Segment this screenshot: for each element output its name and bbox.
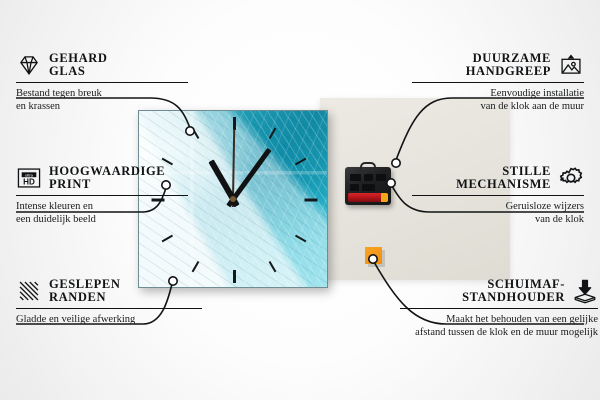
feature-desc-line2: van de klok aan de muur [412, 100, 584, 113]
feature-stille-mechanisme: STILLE MECHANISME Geruisloze wijzers van… [412, 165, 584, 227]
feature-divider [412, 82, 584, 83]
feature-desc-line1: Gladde en veilige afwerking [16, 313, 202, 326]
feature-title-line2: HANDGREEP [466, 65, 551, 78]
feature-description: Intense kleuren en een duidelijk beeld [16, 200, 188, 227]
feature-title-line2: RANDEN [49, 291, 121, 304]
feature-desc-line1: Bestand tegen breuk [16, 87, 188, 100]
feature-divider [412, 195, 584, 196]
infographic-stage: GEHARD GLAS Bestand tegen breuk en krass… [0, 0, 600, 400]
hatched-edge-icon [16, 278, 42, 304]
stamp-down-arrow-icon [572, 278, 598, 304]
ultra-hd-icon: ultra HD [16, 165, 42, 191]
clock-center-pivot [230, 196, 236, 202]
feature-divider [16, 195, 188, 196]
feature-desc-line1: Geruisloze wijzers [412, 200, 584, 213]
diamond-icon [16, 52, 42, 78]
feature-title-line2: GLAS [49, 65, 107, 78]
feature-divider [16, 308, 202, 309]
feature-desc-line2: en krassen [16, 100, 188, 113]
svg-text:ultra: ultra [25, 172, 34, 177]
feature-desc-line2: afstand tussen de klok en de muur mogeli… [400, 326, 598, 339]
feature-desc-line2: van de klok [412, 213, 584, 226]
feature-description: Gladde en veilige afwerking [16, 313, 202, 326]
feature-description: Geruisloze wijzers van de klok [412, 200, 584, 227]
svg-text:HD: HD [23, 178, 35, 187]
feature-desc-line1: Maakt het behouden van een gelijke [400, 313, 598, 326]
feature-duurzame-handgreep: DUURZAME HANDGREEP Eenvoudige installati… [412, 52, 584, 114]
feature-geslepen-randen: GESLEPEN RANDEN Gladde en veilige afwerk… [16, 278, 202, 326]
feature-schuimafstandhouder: SCHUIMAF- STANDHOUDER Maakt het behouden… [400, 278, 598, 340]
feature-desc-line1: Eenvoudige installatie [412, 87, 584, 100]
picture-frame-icon [558, 52, 584, 78]
feature-desc-line1: Intense kleuren en [16, 200, 188, 213]
feature-title-line2: PRINT [49, 178, 165, 191]
feature-divider [400, 308, 598, 309]
feature-gehard-glas: GEHARD GLAS Bestand tegen breuk en krass… [16, 52, 188, 114]
feature-divider [16, 82, 188, 83]
feature-description: Maakt het behouden van een gelijke afsta… [400, 313, 598, 340]
movement-hanging-loop [360, 162, 376, 171]
feature-description: Eenvoudige installatie van de klok aan d… [412, 87, 584, 114]
aa-battery [348, 193, 388, 202]
gear-icon [558, 165, 584, 191]
feature-hoogwaardige-print: ultra HD HOOGWAARDIGE PRINT Intense kleu… [16, 165, 188, 227]
foam-spacer-pad [365, 247, 382, 264]
feature-desc-line2: een duidelijk beeld [16, 213, 188, 226]
feature-title-line2: STANDHOUDER [462, 291, 565, 304]
feature-title-line2: MECHANISME [456, 178, 551, 191]
clock-movement-module [345, 167, 391, 205]
feature-description: Bestand tegen breuk en krassen [16, 87, 188, 114]
battery-positive-terminal [381, 193, 388, 202]
